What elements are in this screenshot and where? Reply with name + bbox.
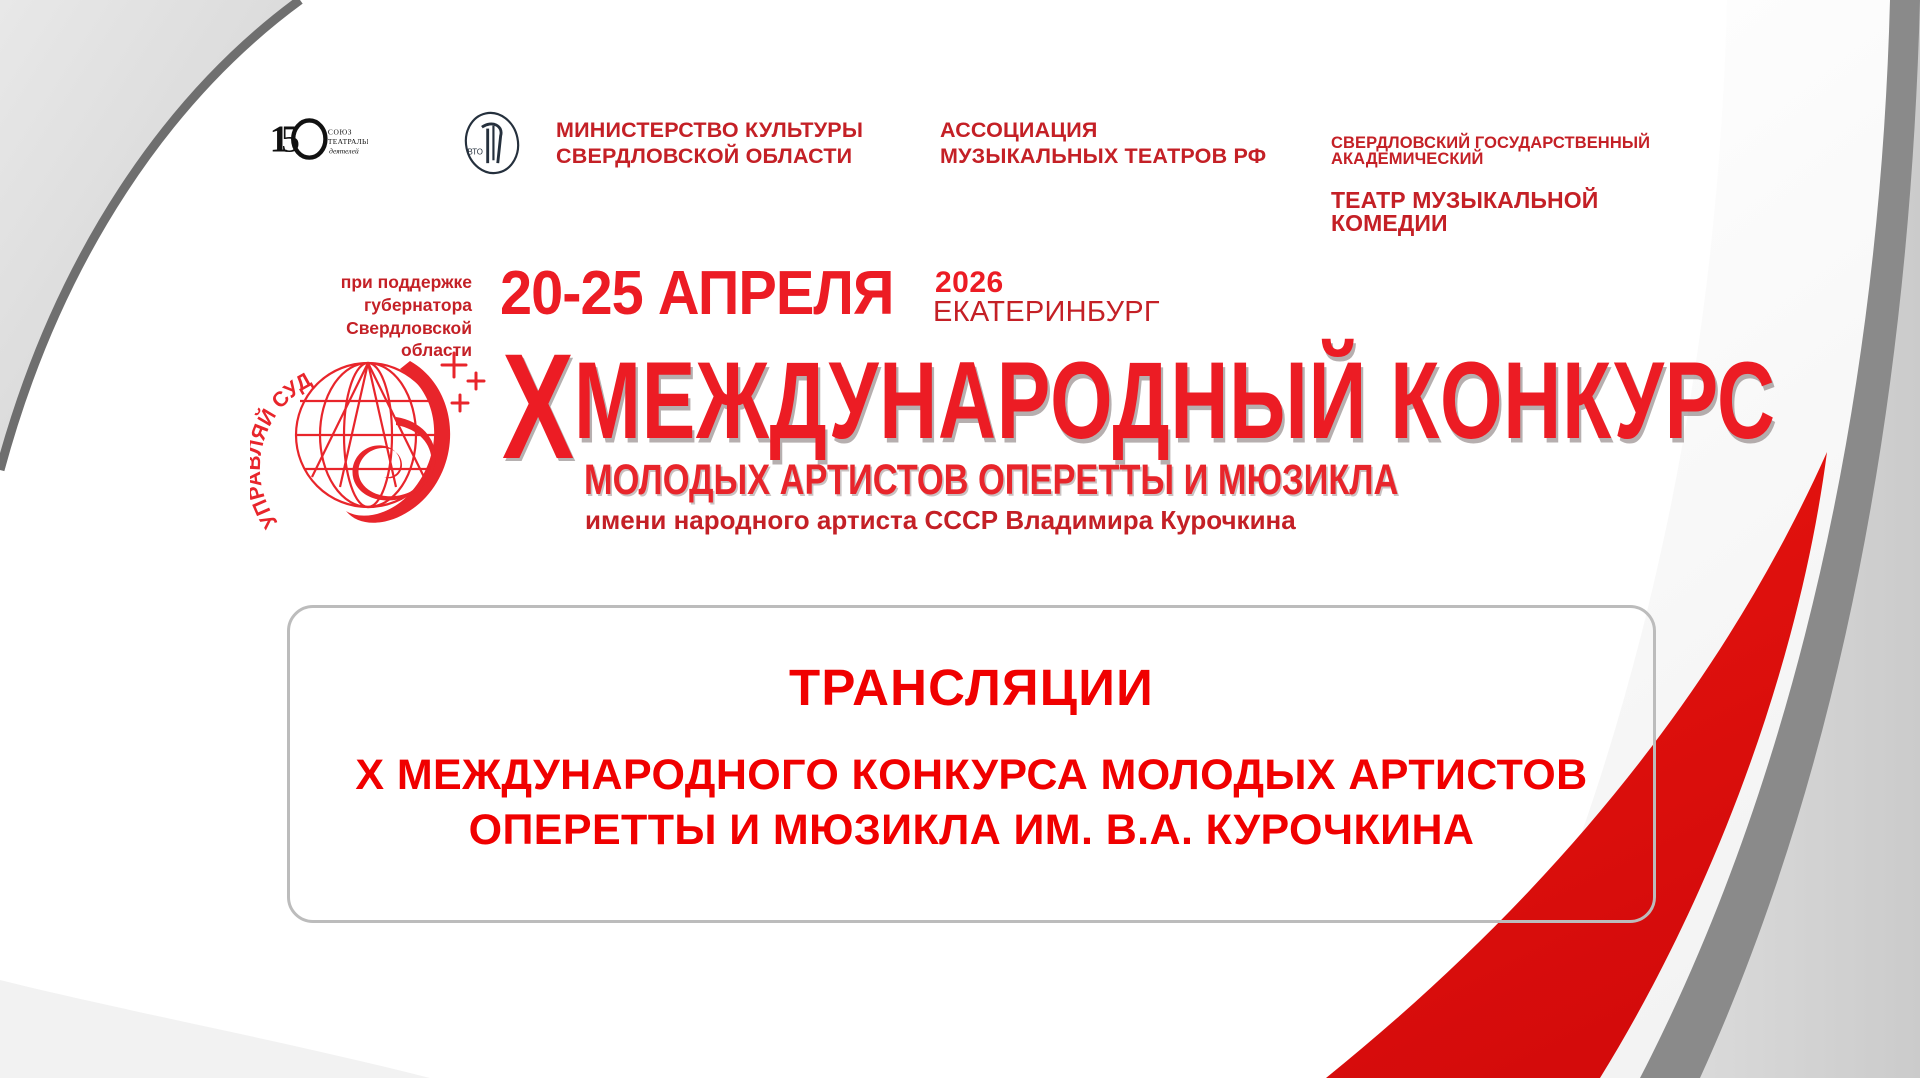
event-year: 2026 <box>935 266 1004 300</box>
svg-text:деятелей: деятелей <box>329 146 359 155</box>
globe-swirl-emblem-icon: УПРАВЛЯЙ СУДЬБОЙ! <box>250 335 500 557</box>
svg-text:УПРАВЛЯЙ СУДЬБОЙ!: УПРАВЛЯЙ СУДЬБОЙ! <box>250 335 316 532</box>
partner-logos-row: 1 5 СОЮЗ ТЕАТРАЛЬНЫХ деятелей ВТО МИНИСТ… <box>268 105 1698 185</box>
event-title-sub: МОЛОДЫХ АРТИСТОВ ОПЕРЕТТЫ И МЮЗИКЛА <box>584 459 1398 502</box>
svg-text:ВТО: ВТО <box>468 148 483 157</box>
card-body: X МЕЖДУНАРОДНОГО КОНКУРСА МОЛОДЫХ АРТИСТ… <box>290 748 1653 858</box>
svg-text:СОЮЗ: СОЮЗ <box>328 128 352 137</box>
partner-theatre-label: СВЕРДЛОВСКИЙ ГОСУДАРСТВЕННЫЙ АКАДЕМИЧЕСК… <box>1331 116 1698 254</box>
partner-theatre-line2: ТЕАТР МУЗЫКАЛЬНОЙ КОМЕДИИ <box>1331 189 1698 235</box>
partner-theatre-line1: СВЕРДЛОВСКИЙ ГОСУДАРСТВЕННЫЙ АКАДЕМИЧЕСК… <box>1331 135 1698 168</box>
event-dates: 20-25 АПРЕЛЯ <box>500 258 893 329</box>
bottom-left-faint-arc <box>0 980 430 1078</box>
vto-theatre-society-logo-icon: ВТО <box>456 107 528 179</box>
event-roman-numeral: X <box>502 331 574 481</box>
partner-association-label: АССОЦИАЦИЯ МУЗЫКАЛЬНЫХ ТЕАТРОВ РФ <box>940 117 1266 169</box>
event-title-block: X МЕЖДУНАРОДНЫЙ КОНКУРС МОЛОДЫХ АРТИСТОВ… <box>502 341 1702 459</box>
card-heading: ТРАНСЛЯЦИИ <box>290 658 1653 717</box>
emblem-slogan: УПРАВЛЯЙ СУДЬБОЙ! <box>250 335 316 532</box>
presentation-slide: 1 5 СОЮЗ ТЕАТРАЛЬНЫХ деятелей ВТО МИНИСТ… <box>0 0 1920 1078</box>
150-anniversary-logo-icon: 1 5 СОЮЗ ТЕАТРАЛЬНЫХ деятелей <box>268 113 368 175</box>
card-body-line2: ОПЕРЕТТЫ И МЮЗИКЛА ИМ. В.А. КУРОЧКИНА <box>290 803 1653 858</box>
svg-text:ТЕАТРАЛЬНЫХ: ТЕАТРАЛЬНЫХ <box>328 137 368 146</box>
partner-ministry-label: МИНИСТЕРСТВО КУЛЬТУРЫ СВЕРДЛОВСКОЙ ОБЛАС… <box>556 117 863 169</box>
event-title-main: МЕЖДУНАРОДНЫЙ КОНКУРС <box>574 346 1776 455</box>
event-city: ЕКАТЕРИНБУРГ <box>933 296 1160 329</box>
event-title-dedication: имени народного артиста СССР Владимира К… <box>585 507 1296 533</box>
broadcasts-card: ТРАНСЛЯЦИИ X МЕЖДУНАРОДНОГО КОНКУРСА МОЛ… <box>287 605 1656 923</box>
card-body-line1: X МЕЖДУНАРОДНОГО КОНКУРСА МОЛОДЫХ АРТИСТ… <box>290 748 1653 803</box>
